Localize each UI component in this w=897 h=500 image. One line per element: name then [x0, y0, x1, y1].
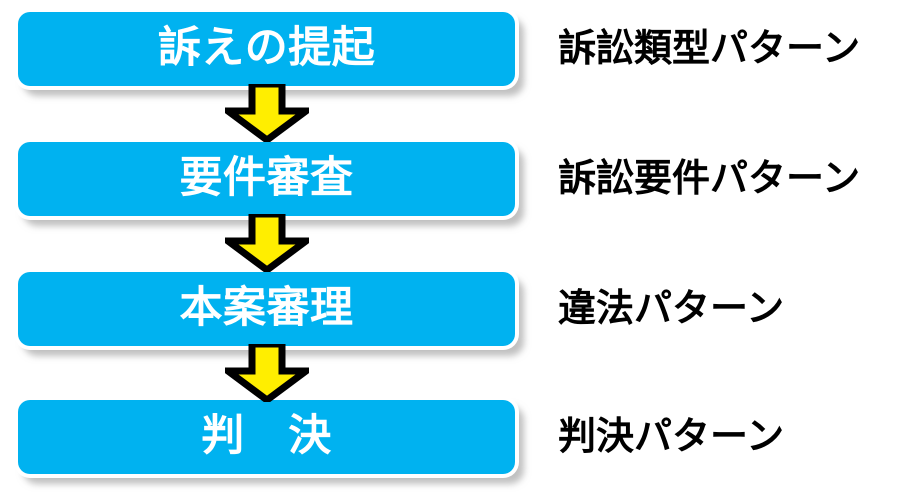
- stage-label-3: 本案審理: [180, 287, 354, 330]
- pattern-label-1: 訴訟類型パターン: [558, 30, 860, 68]
- stage-box-3[interactable]: 本案審理: [18, 272, 515, 346]
- down-arrow-icon-3: [225, 344, 309, 402]
- down-arrow-icon-2: [225, 214, 309, 272]
- stage-box-1[interactable]: 訴えの提起: [18, 12, 515, 86]
- stage-label-1: 訴えの提起: [158, 27, 376, 70]
- litigation-flow-diagram: 訴えの提起 要件審査 本案審理: [0, 0, 897, 500]
- flow-column: 訴えの提起 要件審査 本案審理: [0, 0, 540, 500]
- pattern-label-4: 判決パターン: [558, 418, 784, 456]
- pattern-label-2: 訴訟要件パターン: [558, 160, 860, 198]
- stage-box-2[interactable]: 要件審査: [18, 142, 515, 216]
- stage-label-4: 判 決: [201, 415, 332, 458]
- stage-box-4[interactable]: 判 決: [18, 400, 515, 474]
- down-arrow-icon-1: [225, 84, 309, 142]
- pattern-label-column: 訴訟類型パターン 訴訟要件パターン 違法パターン 判決パターン: [540, 0, 897, 500]
- stage-label-2: 要件審査: [180, 157, 354, 200]
- pattern-label-3: 違法パターン: [558, 290, 784, 328]
